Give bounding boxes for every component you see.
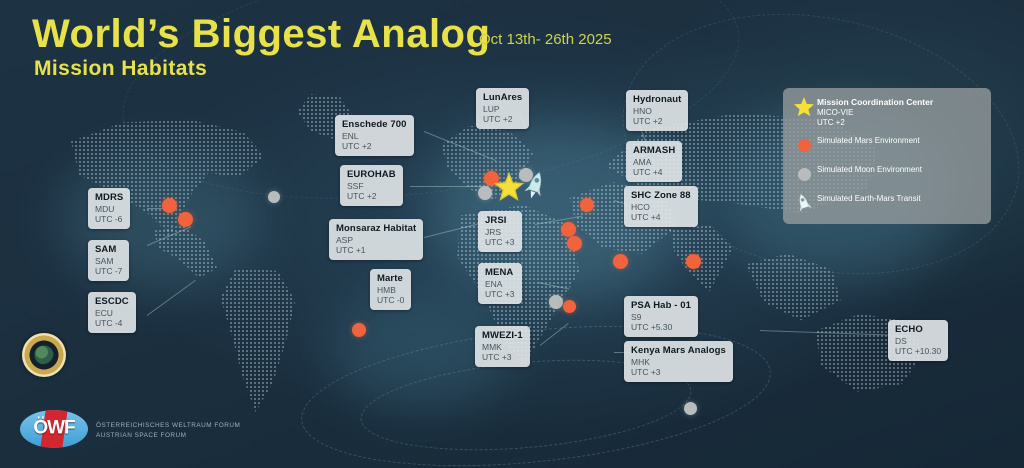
marker-mars[interactable]	[178, 212, 193, 227]
habitat-tz: UTC -0	[377, 295, 404, 305]
marker-moon[interactable]	[268, 191, 280, 203]
star-icon[interactable]	[494, 172, 524, 202]
organization-name: ÖSTERREICHISCHES WELTRAUM FORUM AUSTRIAN…	[96, 421, 240, 441]
habitat-label-psa-hab-01[interactable]: PSA Hab - 01 S9 UTC +5.30	[624, 296, 698, 337]
marker-mars[interactable]	[567, 236, 582, 251]
legend-label: Simulated Moon Environment	[817, 165, 922, 175]
habitat-label-marte[interactable]: Marte HMB UTC -0	[370, 269, 411, 310]
habitat-tz: UTC +2	[347, 191, 396, 201]
habitat-name: Kenya Mars Analogs	[631, 345, 726, 356]
marker-mars[interactable]	[561, 222, 576, 237]
star-icon	[791, 95, 817, 119]
marker-mars[interactable]	[686, 254, 701, 269]
habitat-tz: UTC +2	[633, 116, 681, 126]
habitat-name: Marte	[377, 273, 404, 284]
legend-item-mission-coordination-center[interactable]: Mission Coordination Center MICO-VIE UTC…	[791, 95, 983, 129]
mission-dates: Oct 13th- 26th 2025	[479, 31, 612, 48]
habitat-code: ASP	[336, 235, 416, 245]
red-dot-icon	[791, 134, 817, 158]
marker-moon[interactable]	[684, 402, 697, 415]
legend-panel: Mission Coordination Center MICO-VIE UTC…	[783, 88, 991, 224]
org-name-english: AUSTRIAN SPACE FORUM	[96, 431, 240, 441]
habitat-label-mwezi-1[interactable]: MWEZI-1 MMK UTC +3	[475, 326, 530, 367]
legend-tz: UTC +2	[817, 118, 933, 128]
rocket-icon	[791, 192, 817, 216]
habitat-name: Hydronaut	[633, 94, 681, 105]
habitat-code: JRS	[485, 227, 515, 237]
habitat-code: LUP	[483, 104, 522, 114]
habitat-code: ENA	[485, 279, 515, 289]
habitat-label-sam[interactable]: SAM SAM UTC -7	[88, 240, 129, 281]
habitat-name: ARMASH	[633, 145, 675, 156]
habitat-code: ECU	[95, 308, 129, 318]
habitat-tz: UTC +3	[485, 237, 515, 247]
page-title: World’s Biggest Analog	[32, 14, 490, 55]
mission-badge-logo	[22, 333, 66, 377]
legend-label: Simulated Earth-Mars Transit	[817, 194, 921, 204]
habitat-label-kenya-mars-analogs[interactable]: Kenya Mars Analogs MHK UTC +3	[624, 341, 733, 382]
habitat-code: DS	[895, 336, 941, 346]
habitat-tz: UTC +3	[631, 367, 726, 377]
habitat-tz: UTC +1	[336, 245, 416, 255]
habitat-tz: UTC +5.30	[631, 322, 691, 332]
owf-logo-text: ÖWF	[33, 418, 74, 440]
habitat-code: MHK	[631, 357, 726, 367]
marker-mars[interactable]	[613, 254, 628, 269]
page-subtitle: Mission Habitats	[34, 57, 207, 81]
legend-item-simulated-earth-mars-transit[interactable]: Simulated Earth-Mars Transit	[791, 192, 983, 216]
habitat-label-mena[interactable]: MENA ENA UTC +3	[478, 263, 522, 304]
habitat-tz: UTC +2	[342, 141, 407, 151]
habitat-name: MDRS	[95, 192, 123, 203]
habitat-label-hydronaut[interactable]: Hydronaut HNO UTC +2	[626, 90, 688, 131]
habitat-label-lunares[interactable]: LunAres LUP UTC +2	[476, 88, 529, 129]
habitat-name: Enschede 700	[342, 119, 407, 130]
habitat-code: MDU	[95, 204, 123, 214]
marker-moon[interactable]	[478, 186, 492, 200]
habitat-code: SAM	[95, 256, 122, 266]
habitat-code: S9	[631, 312, 691, 322]
habitat-code: MMK	[482, 342, 523, 352]
marker-mars[interactable]	[563, 300, 576, 313]
habitat-label-mdrs[interactable]: MDRS MDU UTC -6	[88, 188, 130, 229]
habitat-code: AMA	[633, 157, 675, 167]
habitat-tz: UTC +3	[485, 289, 515, 299]
marker-mars[interactable]	[162, 198, 177, 213]
habitat-code: HCO	[631, 202, 691, 212]
habitat-label-jrsi[interactable]: JRSI JRS UTC +3	[478, 211, 522, 252]
legend-code: MICO-VIE	[817, 108, 933, 118]
legend-label: Mission Coordination Center	[817, 97, 933, 108]
habitat-tz: UTC +4	[633, 167, 675, 177]
habitat-code: SSF	[347, 181, 396, 191]
habitat-code: HNO	[633, 106, 681, 116]
habitat-label-enschede-700[interactable]: Enschede 700 ENL UTC +2	[335, 115, 414, 156]
habitat-name: EUROHAB	[347, 169, 396, 180]
grey-dot-icon	[791, 163, 817, 187]
marker-mars[interactable]	[580, 198, 594, 212]
habitat-name: ESCDC	[95, 296, 129, 307]
habitat-label-monsaraz-habitat[interactable]: Monsaraz Habitat ASP UTC +1	[329, 219, 423, 260]
marker-moon[interactable]	[549, 295, 563, 309]
habitat-tz: UTC +2	[483, 114, 522, 124]
habitat-label-escdc[interactable]: ESCDC ECU UTC -4	[88, 292, 136, 333]
habitat-name: ECHO	[895, 324, 941, 335]
habitat-label-shc-zone-88[interactable]: SHC Zone 88 HCO UTC +4	[624, 186, 698, 227]
org-name-german: ÖSTERREICHISCHES WELTRAUM FORUM	[96, 421, 240, 431]
habitat-name: Monsaraz Habitat	[336, 223, 416, 234]
habitat-name: JRSI	[485, 215, 515, 226]
habitat-label-eurohab[interactable]: EUROHAB SSF UTC +2	[340, 165, 403, 206]
habitat-code: HMB	[377, 285, 404, 295]
habitat-name: SAM	[95, 244, 122, 255]
habitat-name: SHC Zone 88	[631, 190, 691, 201]
habitat-name: MWEZI-1	[482, 330, 523, 341]
legend-item-simulated-moon-environment[interactable]: Simulated Moon Environment	[791, 163, 983, 187]
poster-canvas: World’s Biggest Analog Mission Habitats …	[0, 0, 1024, 468]
legend-label: Simulated Mars Environment	[817, 136, 920, 146]
habitat-tz: UTC +3	[482, 352, 523, 362]
habitat-code: ENL	[342, 131, 407, 141]
owf-logo: ÖWF	[20, 410, 88, 448]
marker-mars[interactable]	[352, 323, 366, 337]
habitat-label-armash[interactable]: ARMASH AMA UTC +4	[626, 141, 682, 182]
habitat-tz: UTC -4	[95, 318, 129, 328]
legend-item-simulated-mars-environment[interactable]: Simulated Mars Environment	[791, 134, 983, 158]
habitat-label-echo[interactable]: ECHO DS UTC +10.30	[888, 320, 948, 361]
habitat-tz: UTC +4	[631, 212, 691, 222]
habitat-tz: UTC -7	[95, 266, 122, 276]
habitat-name: MENA	[485, 267, 515, 278]
habitat-tz: UTC +10.30	[895, 346, 941, 356]
habitat-name: LunAres	[483, 92, 522, 103]
habitat-name: PSA Hab - 01	[631, 300, 691, 311]
habitat-tz: UTC -6	[95, 214, 123, 224]
